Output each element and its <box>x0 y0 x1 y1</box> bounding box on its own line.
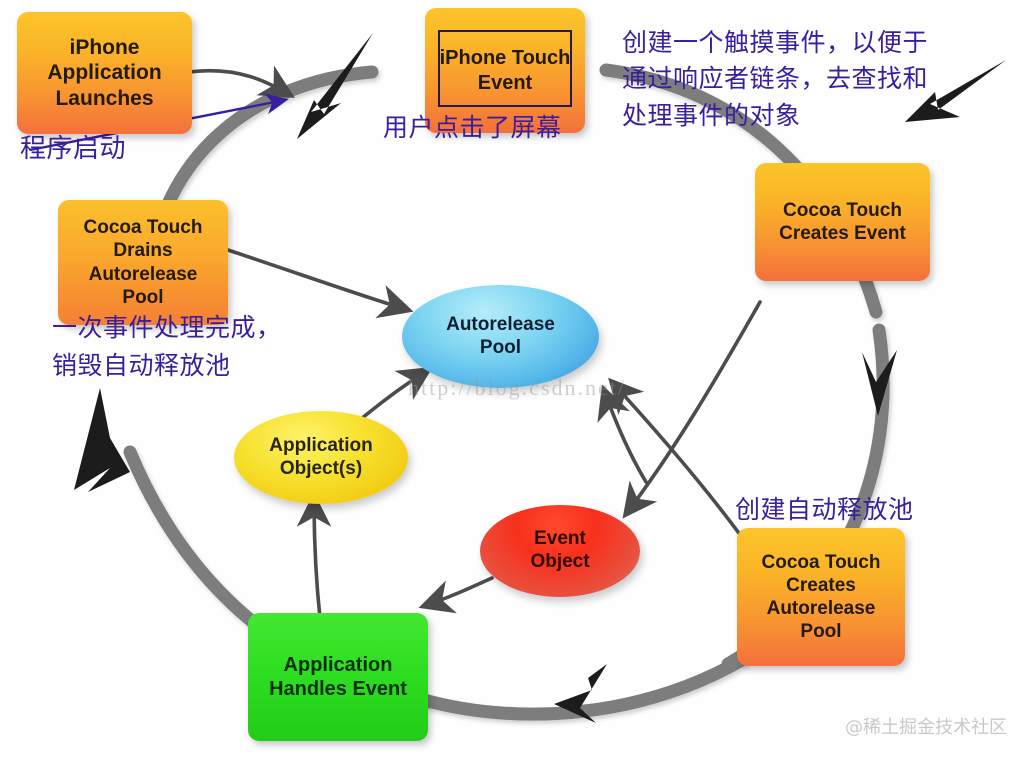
connector-drains-to-pool <box>228 250 408 310</box>
arrowhead-left <box>74 388 130 492</box>
annotation-drain-pool: 一次事件处理完成， 销毁自动释放池 <box>52 309 282 384</box>
node-label: Cocoa Touch Drains Autorelease Pool <box>84 216 203 309</box>
node-application-handles-event[interactable]: Application Handles Event <box>248 613 428 741</box>
node-cocoa-touch-creates-autorelease-pool[interactable]: Cocoa Touch Creates Autorelease Pool <box>737 528 905 666</box>
annotation-create-pool: 创建自动释放池 <box>735 494 914 527</box>
node-label: Application Handles Event <box>269 653 407 702</box>
node-event-object[interactable]: Event Object <box>480 505 640 597</box>
connector-eventobj-to-pool <box>604 390 646 482</box>
diagram-canvas: iPhone Application Launches iPhone Touch… <box>0 0 1024 764</box>
node-label: Application Object(s) <box>269 435 372 481</box>
connector-createspool-to-pool <box>612 382 744 540</box>
node-autorelease-pool[interactable]: Autorelease Pool <box>402 285 599 388</box>
node-label: iPhone Application Launches <box>47 35 161 112</box>
node-label: Cocoa Touch Creates Event <box>779 199 906 245</box>
node-label: Autorelease Pool <box>446 314 555 360</box>
node-iphone-application-launches[interactable]: iPhone Application Launches <box>17 12 192 134</box>
watermark-brand: @稀土掘金技术社区 <box>845 713 1007 739</box>
node-label: iPhone Touch Event <box>440 46 571 95</box>
annotation-user-tapped: 用户点击了屏幕 <box>383 112 562 145</box>
node-label: Cocoa Touch Creates Autorelease Pool <box>762 551 881 644</box>
connector-handles-to-appobj <box>314 498 320 618</box>
watermark-url: http://blog.csdn.net/ <box>408 375 626 401</box>
node-cocoa-touch-creates-event[interactable]: Cocoa Touch Creates Event <box>755 163 930 281</box>
connector-eventobj-to-handles <box>424 578 492 606</box>
node-label: Event Object <box>530 528 589 574</box>
annotation-create-touch-event: 创建一个触摸事件，以便于 通过响应者链条，去查找和 处理事件的对象 <box>622 25 928 134</box>
node-application-objects[interactable]: Application Object(s) <box>234 411 408 504</box>
annotation-launch: 程序启动 <box>20 133 126 167</box>
node-cocoa-touch-drains-autorelease-pool[interactable]: Cocoa Touch Drains Autorelease Pool <box>58 200 228 325</box>
